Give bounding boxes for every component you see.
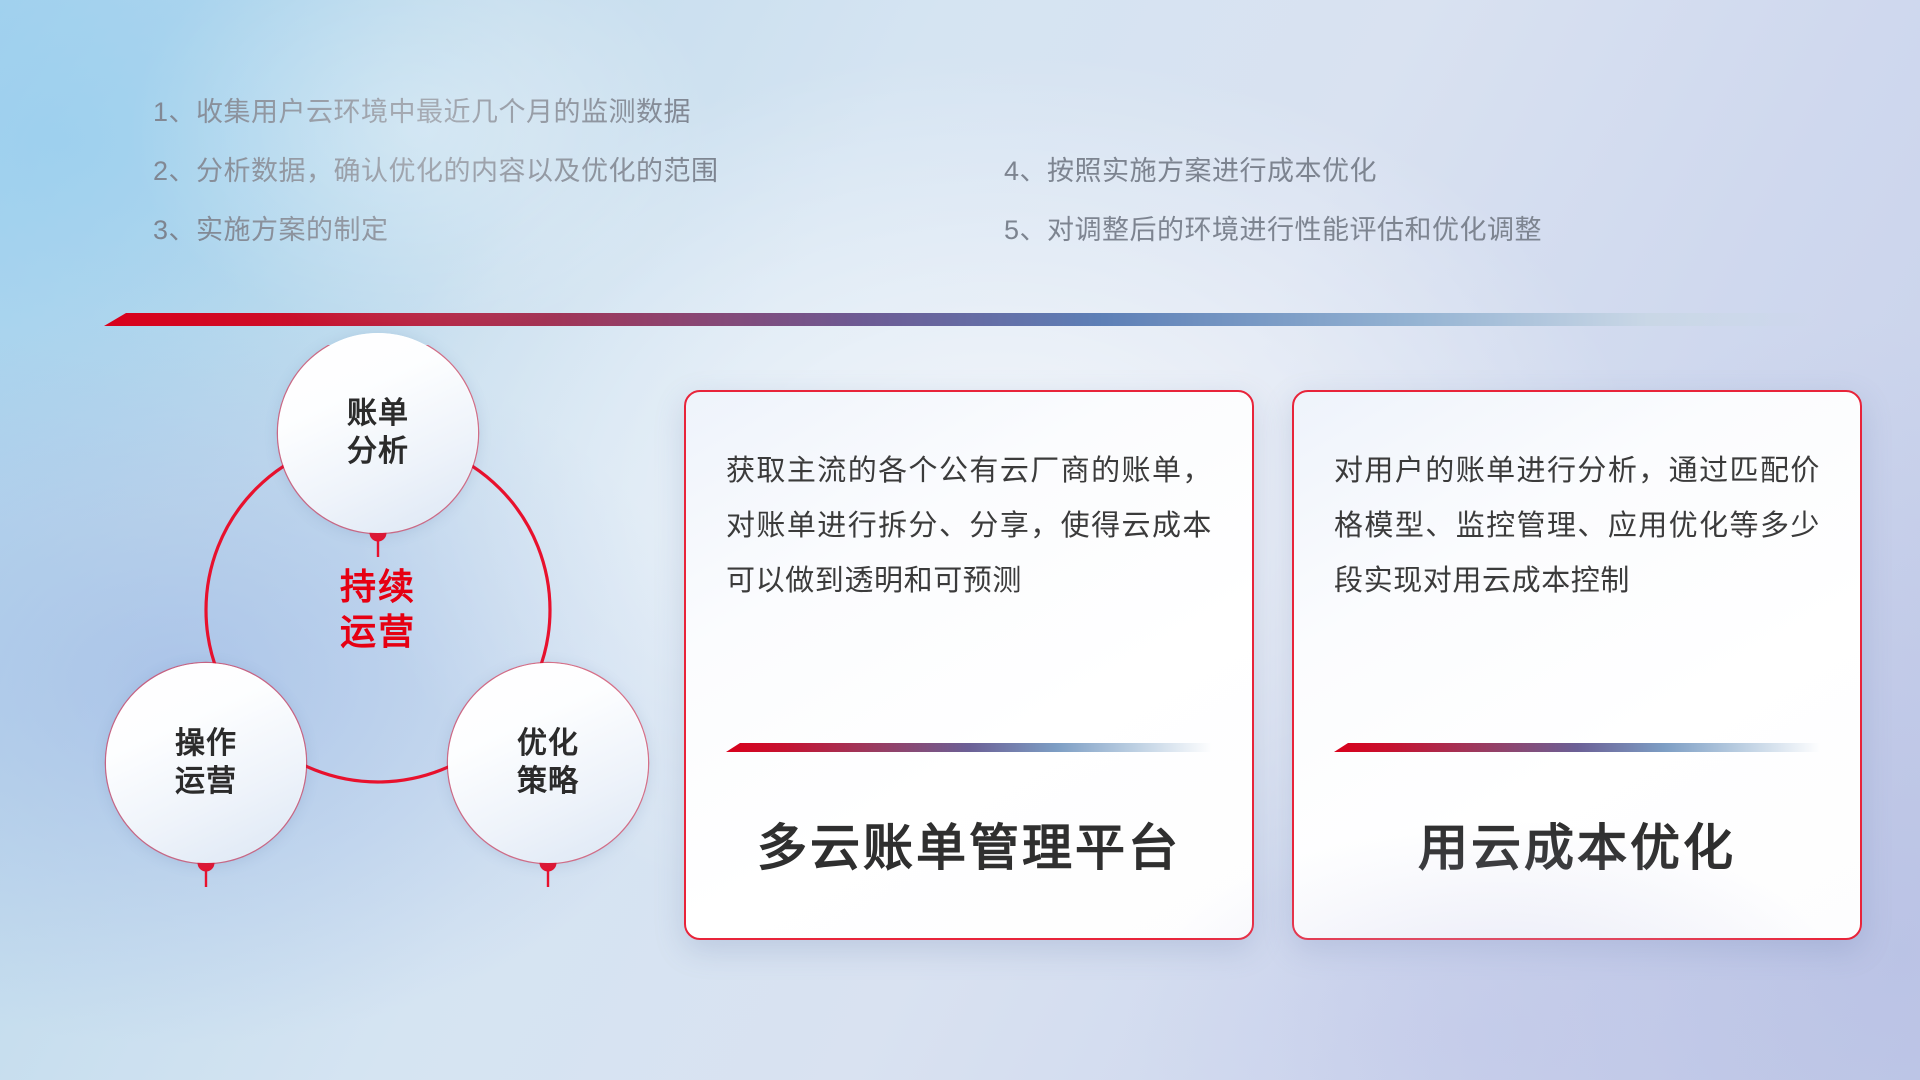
card-title: 多云账单管理平台 [726,752,1212,938]
venn-bubble-operations[interactable]: 操作运营 [106,663,306,863]
step-item: 4、按照实施方案进行成本优化 [1004,158,1542,185]
venn-center-label: 持续运营 [288,540,468,680]
slide-canvas: 1、收集用户云环境中最近几个月的监测数据 2、分析数据，确认优化的内容以及优化的… [0,0,1920,1080]
card-body-text: 获取主流的各个公有云厂商的账单，对账单进行拆分、分享，使得云成本可以做到透明和可… [726,444,1212,609]
venn-bubble-bill-analysis[interactable]: 账单分析 [278,333,478,533]
step-item: 5、对调整后的环境进行性能评估和优化调整 [1004,217,1542,244]
header-divider [104,313,1819,326]
venn-bubble-label: 优化策略 [517,725,579,801]
steps-right-column: 4、按照实施方案进行成本优化 5、对调整后的环境进行性能评估和优化调整 [1004,158,1542,276]
card-title: 用云成本优化 [1334,752,1820,938]
venn-bubble-label: 账单分析 [347,395,409,471]
venn-center-text: 持续运营 [340,565,416,654]
step-item: 3、实施方案的制定 [153,217,719,244]
card-divider-bar [726,743,1212,752]
continuous-operation-diagram: 账单分析 操作运营 优化策略 持续运营 [96,345,656,965]
feature-card-multicloud-billing[interactable]: 获取主流的各个公有云厂商的账单，对账单进行拆分、分享，使得云成本可以做到透明和可… [684,390,1254,940]
venn-bubble-optimization-strategy[interactable]: 优化策略 [448,663,648,863]
steps-left-column: 1、收集用户云环境中最近几个月的监测数据 2、分析数据，确认优化的内容以及优化的… [153,99,719,276]
venn-bubble-label: 操作运营 [175,725,237,801]
card-body-text: 对用户的账单进行分析，通过匹配价格模型、监控管理、应用优化等多少段实现对用云成本… [1334,444,1820,609]
header-divider-bar [104,313,1819,326]
card-divider [726,743,1212,752]
step-item: 1、收集用户云环境中最近几个月的监测数据 [153,99,719,126]
card-divider-bar [1334,743,1820,752]
card-divider [1334,743,1820,752]
feature-card-cloud-cost-optimization[interactable]: 对用户的账单进行分析，通过匹配价格模型、监控管理、应用优化等多少段实现对用云成本… [1292,390,1862,940]
step-item: 2、分析数据，确认优化的内容以及优化的范围 [153,158,719,185]
